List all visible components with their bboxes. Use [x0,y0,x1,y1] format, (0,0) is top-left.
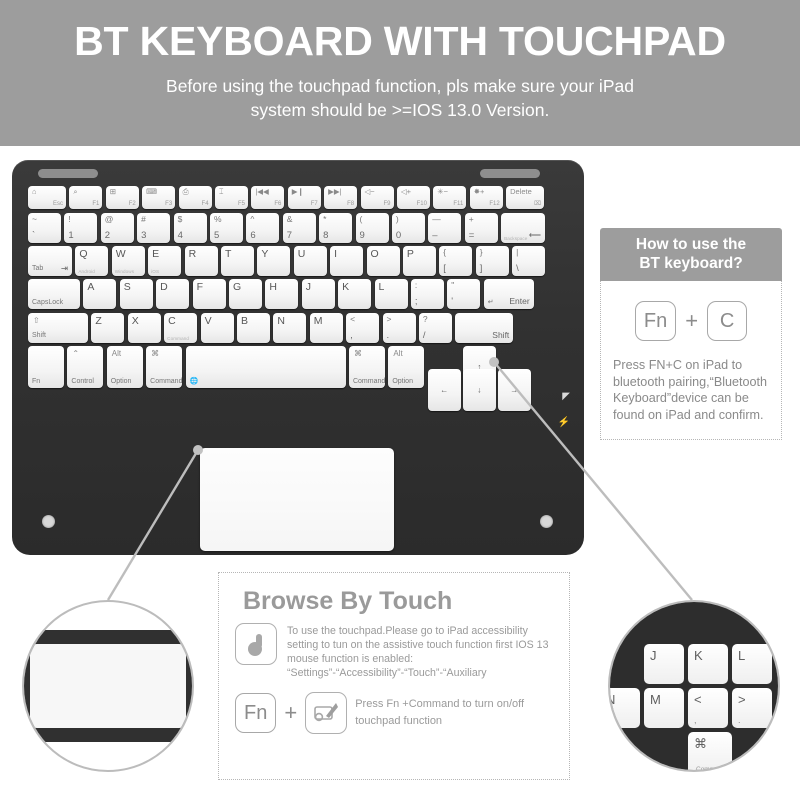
key-3[interactable]: # 3 [137,213,170,243]
browse-plus: + [284,702,297,724]
keyboard-foot-left [42,515,55,528]
key-enter[interactable]: Enter ↵ [484,279,534,309]
command-icon: ⌘ [151,349,159,358]
keyboard-hinge-left [38,169,98,178]
key-capslock-label: CapsLock [32,299,63,307]
key-1[interactable]: ! 1 [64,213,97,243]
howto-description: Press FN+C on iPad to bluetooth pairing,… [613,357,769,423]
key-control[interactable]: ⌃ Control [67,346,103,388]
key-k-label: K [342,282,349,293]
key-semicolon-top: : [415,281,417,290]
howto-caption-line1: How to use the [606,235,776,254]
language-icon: ⊞ [110,188,116,196]
key-esc[interactable]: ⌂ Esc [28,186,66,209]
keys-closeup: J K L N M < , > . ⌘ Co [608,600,780,772]
key-option-right-top: Alt [393,349,402,358]
howto-body: Fn + C Press FN+C on iPad to bluetooth p… [600,281,782,440]
key-n-label: N [277,316,285,327]
key-backtick-bottom: ` [32,231,35,241]
header-subtitle-line2: system should be >=IOS 13.0 Version. [80,98,720,122]
key-7-top: & [287,215,293,224]
key-f5[interactable]: ⌶ F5 [215,186,248,209]
tab-arrows-icon: ⇥ [61,264,68,273]
key-8[interactable]: * 8 [319,213,352,243]
key-space[interactable]: 🌐 [186,346,346,388]
key-semicolon-bottom: ; [415,297,418,307]
key-u[interactable]: U [294,246,327,276]
browse-row-2-line2: touchpad function [355,713,524,730]
key-quote[interactable]: " ' [447,279,480,309]
key-period-bottom: . [387,331,390,341]
key-control-label: Control [71,378,94,386]
key-g[interactable]: G [229,279,262,309]
finger-touch-icon [235,623,277,665]
browse-row-2: Fn + Press Fn +Command to turn on/off to… [235,692,553,734]
key-f9-label: F9 [384,201,391,208]
key-bracket-right-bottom: ] [480,264,483,274]
key-equals-top: + [469,215,474,224]
key-9-bottom: 9 [360,231,365,241]
closeup-command-icon: ⌘ [694,736,707,752]
battery-icon: ⚡ [558,418,570,428]
key-y[interactable]: Y [257,246,290,276]
key-h-label: H [269,282,277,293]
key-capslock[interactable]: CapsLock [28,279,80,309]
closeup-key-m-label: M [650,692,661,707]
key-p-label: P [407,249,414,260]
bluetooth-icon: ◤ [562,392,570,402]
key-fn-label: Fn [32,378,40,386]
key-4-bottom: 4 [178,231,183,241]
keyboard-arrow-cluster: ↑ ← ↓ → [428,346,532,388]
key-slash[interactable]: ? / [419,313,452,343]
browse-callout: Browse By Touch To use the touchpad.Plea… [218,572,570,780]
key-f7-label: F7 [311,201,318,208]
key-bracket-left[interactable]: { [ [439,246,472,276]
key-2-top: @ [105,215,114,224]
globe-icon: 🌐 [190,378,199,386]
closeup-key-n-label: N [608,692,615,707]
touchpad-closeup [22,600,194,772]
closeup-key-n: N [608,688,640,728]
key-backtick[interactable]: ~ ` [28,213,61,243]
keyboard-body: ⌂ Esc ⌕ F1 ⊞ F2 ⌨ F3 [12,160,584,555]
closeup-key-l: L [732,644,772,684]
keyboard-row-numbers: ~ ` ! 1 @ 2 # 3 [28,213,568,243]
key-r[interactable]: R [185,246,218,276]
key-shift-right-label: Shift [492,331,509,340]
howto-key-fn: Fn [635,301,676,341]
key-f10-label: F10 [417,201,427,208]
key-j-label: J [306,282,311,293]
browse-row-1-text: To use the touchpad.Please go to iPad ac… [287,623,553,680]
key-enter-label: Enter [509,297,529,306]
key-slash-bottom: / [423,331,426,341]
key-option-right-label: Option [392,378,413,386]
key-l-label: L [379,282,385,293]
key-arrow-right-glyph: → [498,385,531,394]
key-s-label: S [124,282,131,293]
key-option-left-label: Option [111,378,132,386]
key-command-right-label: Command [353,378,385,386]
key-u-label: U [298,249,306,260]
howto-callout: How to use the BT keyboard? Fn + C Press… [600,228,782,440]
key-minus-top: — [432,215,441,224]
key-option-left-top: Alt [112,349,121,358]
key-backspace-label: Backspace [504,236,527,241]
keyboard-keys: ⌂ Esc ⌕ F1 ⊞ F2 ⌨ F3 [28,186,568,392]
closeup-key-period-label: > [738,692,746,707]
key-b-label: B [241,316,248,327]
key-f4[interactable]: ⎙ F4 [179,186,212,209]
key-w-sub: Windows [115,269,134,274]
key-f3-label: F3 [165,201,172,208]
key-8-bottom: 8 [323,231,328,241]
browse-row-2-line1: Press Fn +Command to turn on/off [355,696,524,713]
key-bracket-left-top: { [443,248,446,257]
key-f12[interactable]: ✸+ F12 [470,186,503,209]
header-subtitle: Before using the touchpad function, pls … [80,74,720,122]
closeup-key-comma: < , [688,688,728,728]
key-arrow-left[interactable]: ← [428,369,461,411]
key-command-left[interactable]: ⌘ Command [146,346,182,388]
browse-key-fn: Fn [235,693,276,733]
key-comma-bottom: , [350,331,353,341]
key-minus[interactable]: — – [428,213,461,243]
key-m[interactable]: M [310,313,343,343]
key-equals[interactable]: + = [465,213,498,243]
key-q[interactable]: Q Android [75,246,108,276]
key-a-label: A [87,282,94,293]
key-o-label: O [371,249,379,260]
key-esc-label: Esc [53,201,63,208]
key-f4-label: F4 [202,201,209,208]
key-arrow-right[interactable]: → [498,369,531,411]
volume-up-icon: ◁+ [401,188,411,196]
key-comma[interactable]: < , [346,313,379,343]
closeup-key-comma-sub: , [694,715,697,725]
key-n[interactable]: N [273,313,306,343]
key-3-bottom: 3 [141,231,146,241]
key-shift-left-label: Shift [32,332,46,340]
key-v[interactable]: V [201,313,234,343]
key-tab[interactable]: Tab ⇥ [28,246,72,276]
enter-arrow-icon: ↵ [488,299,494,307]
key-arrow-down[interactable]: ↓ [463,369,496,411]
key-f9[interactable]: ◁− F9 [361,186,394,209]
ctrl-icon: ⌃ [72,349,79,358]
key-d-label: D [160,282,168,293]
key-2[interactable]: @ 2 [101,213,134,243]
key-f8[interactable]: ▶▶| F8 [324,186,357,209]
key-c[interactable]: C Command [164,313,197,343]
key-d[interactable]: D [156,279,189,309]
brightness-down-icon: ✳− [437,188,448,196]
keyboard-row-function: ⌂ Esc ⌕ F1 ⊞ F2 ⌨ F3 [28,186,568,209]
key-f11-label: F11 [453,201,463,208]
key-fn[interactable]: Fn [28,346,64,388]
screenshot-icon: ⎙ [183,188,189,196]
howto-key-c: C [707,301,747,341]
key-4-top: $ [178,215,183,224]
touchpad[interactable] [200,448,394,551]
key-k[interactable]: K [338,279,371,309]
header-banner: BT KEYBOARD WITH TOUCHPAD Before using t… [0,0,800,146]
key-equals-bottom: = [469,231,475,241]
key-comma-top: < [350,315,355,324]
key-h[interactable]: H [265,279,298,309]
key-period-top: > [387,315,392,324]
key-3-top: # [141,215,146,224]
key-5-bottom: 5 [214,231,219,241]
play-pause-icon: ▶❙ [292,188,304,196]
key-5[interactable]: % 5 [210,213,243,243]
key-f8-label: F8 [347,201,354,208]
key-arrow-left-glyph: ← [428,385,461,394]
prev-track-icon: |◀◀ [255,188,268,196]
keyboard-foot-right [540,515,553,528]
key-f11[interactable]: ✳− F11 [433,186,466,209]
keyboard-row-qwerty: Tab ⇥ Q Android W Windows E iOS [28,246,568,276]
shift-arrow-icon: ⇧ [33,316,40,325]
key-7-bottom: 7 [287,231,292,241]
key-0-top: ) [396,215,399,224]
key-7[interactable]: & 7 [283,213,316,243]
closeup-key-j: J [644,644,684,684]
key-z[interactable]: Z [91,313,124,343]
key-c-label: C [168,316,176,327]
closeup-key-j-label: J [650,648,657,663]
key-f6[interactable]: |◀◀ F6 [251,186,284,209]
delete-icon: ⌧ [534,201,541,208]
key-y-label: Y [261,249,268,260]
key-quote-top: " [451,281,454,290]
key-e-label: E [152,249,159,260]
key-l[interactable]: L [375,279,408,309]
closeup-key-k-label: K [694,648,703,663]
key-6-top: ^ [250,215,254,224]
closeup-key-comma-label: < [694,692,702,707]
key-i-label: I [334,249,337,260]
header-subtitle-line1: Before using the touchpad function, pls … [80,74,720,98]
key-9-top: ( [360,215,363,224]
key-f-label: F [197,282,203,293]
closeup-key-command: ⌘ Command [688,732,732,772]
key-backspace[interactable]: Backspace ⟵ [501,213,545,243]
brightness-up-icon: ✸+ [474,188,485,196]
touchpad-closeup-body [22,630,194,742]
keyboard-row-shift: Shift ⇧ Z X C Command V B N M < , [28,313,568,343]
key-q-sub: Android [78,269,95,274]
closeup-key-k: K [688,644,728,684]
key-a[interactable]: A [83,279,116,309]
key-x-label: X [132,316,139,327]
key-f7[interactable]: ▶❙ F7 [288,186,321,209]
keyboard-row-home: CapsLock A S D F G H J K L : ; [28,279,568,309]
key-f6-label: F6 [274,201,281,208]
key-j[interactable]: J [302,279,335,309]
key-2-bottom: 2 [105,231,110,241]
key-4[interactable]: $ 4 [174,213,207,243]
key-semicolon[interactable]: : ; [411,279,444,309]
closeup-key-period: > . [732,688,772,728]
key-arrow-down-glyph: ↓ [463,385,496,394]
key-f5-label: F5 [238,201,245,208]
keyboard-row-modifiers: Fn ⌃ Control Alt Option ⌘ Command [28,346,568,388]
key-f1[interactable]: ⌕ F1 [69,186,102,209]
key-r-label: R [189,249,197,260]
key-p[interactable]: P [403,246,436,276]
key-z-label: Z [95,316,101,327]
key-5-top: % [214,215,222,224]
key-6[interactable]: ^ 6 [246,213,279,243]
key-f1-label: F1 [92,201,99,208]
key-f12-label: F12 [489,201,499,208]
home-icon: ⌂ [32,188,37,196]
key-w[interactable]: W Windows [112,246,145,276]
keys-closeup-body: J K L N M < , > . ⌘ Co [608,600,780,772]
key-s[interactable]: S [120,279,153,309]
howto-plus: + [685,310,698,332]
howto-key-combo: Fn + C [613,301,769,341]
closeup-key-l-label: L [738,648,745,663]
key-0[interactable]: ) 0 [392,213,425,243]
key-1-top: ! [68,215,70,224]
key-c-sub: Command [167,336,189,341]
key-t-label: T [225,249,231,260]
key-g-label: G [233,282,241,293]
command-icon-right: ⌘ [354,349,362,358]
key-9[interactable]: ( 9 [356,213,389,243]
browse-row-1: To use the touchpad.Please go to iPad ac… [235,623,553,680]
key-backslash[interactable]: | \ [512,246,545,276]
keyboard-icon: ⌨ [146,188,157,196]
lock-icon: ⌶ [219,188,224,196]
search-icon: ⌕ [73,188,77,196]
key-q-label: Q [79,249,87,260]
key-v-label: V [205,316,212,327]
key-w-label: W [116,249,126,260]
closeup-key-period-sub: . [738,715,741,725]
howto-caption-line2: BT keyboard? [606,254,776,273]
volume-down-icon: ◁− [365,188,375,196]
key-t[interactable]: T [221,246,254,276]
key-option-left[interactable]: Alt Option [107,346,143,388]
key-bracket-right[interactable]: } ] [476,246,509,276]
key-b[interactable]: B [237,313,270,343]
key-f3[interactable]: ⌨ F3 [142,186,175,209]
backspace-arrow-icon: ⟵ [529,231,541,240]
key-option-right[interactable]: Alt Option [388,346,424,388]
key-e-sub: iOS [151,269,159,274]
browse-title: Browse By Touch [243,587,553,615]
key-e[interactable]: E iOS [148,246,181,276]
closeup-key-m: M [644,688,684,728]
key-6-bottom: 6 [250,231,255,241]
keyboard-hinge-right [480,169,540,178]
key-delete-label: Delete [510,188,532,196]
key-f10[interactable]: ◁+ F10 [397,186,430,209]
key-backslash-top: | [516,248,518,257]
key-minus-bottom: – [432,231,437,241]
key-f2[interactable]: ⊞ F2 [106,186,139,209]
key-delete[interactable]: Delete ⌧ [506,186,544,209]
key-bracket-left-bottom: [ [443,264,446,274]
key-command-right[interactable]: ⌘ Command [349,346,385,388]
key-period[interactable]: > . [383,313,416,343]
key-shift-left[interactable]: Shift ⇧ [28,313,88,343]
key-o[interactable]: O [367,246,400,276]
key-slash-top: ? [423,315,428,324]
next-track-icon: ▶▶| [328,188,341,196]
key-8-top: * [323,215,326,224]
key-f[interactable]: F [193,279,226,309]
howto-caption: How to use the BT keyboard? [600,228,782,281]
finger-touch-glyph [244,631,268,657]
key-quote-bottom: ' [451,297,453,307]
key-command-left-label: Command [150,378,182,386]
key-f2-label: F2 [129,201,136,208]
infographic-page: BT KEYBOARD WITH TOUCHPAD Before using t… [0,0,800,800]
page-title: BT KEYBOARD WITH TOUCHPAD [0,18,800,64]
key-x[interactable]: X [128,313,161,343]
browse-row-2-text: Press Fn +Command to turn on/off touchpa… [355,696,524,730]
key-backtick-top: ~ [32,215,37,224]
key-m-label: M [314,316,323,327]
key-0-bottom: 0 [396,231,401,241]
touchpad-hand-icon [305,692,347,734]
touchpad-hand-glyph [313,701,339,725]
closeup-key-command-label: Command [696,766,726,772]
touchpad-closeup-surface [30,644,186,728]
key-i[interactable]: I [330,246,363,276]
key-shift-right[interactable]: Shift [455,313,513,343]
key-tab-label: Tab [32,265,43,273]
key-1-bottom: 1 [68,231,73,241]
key-backslash-bottom: \ [516,264,519,274]
keyboard-product-image: ⌂ Esc ⌕ F1 ⊞ F2 ⌨ F3 [12,160,584,555]
key-bracket-right-top: } [480,248,483,257]
